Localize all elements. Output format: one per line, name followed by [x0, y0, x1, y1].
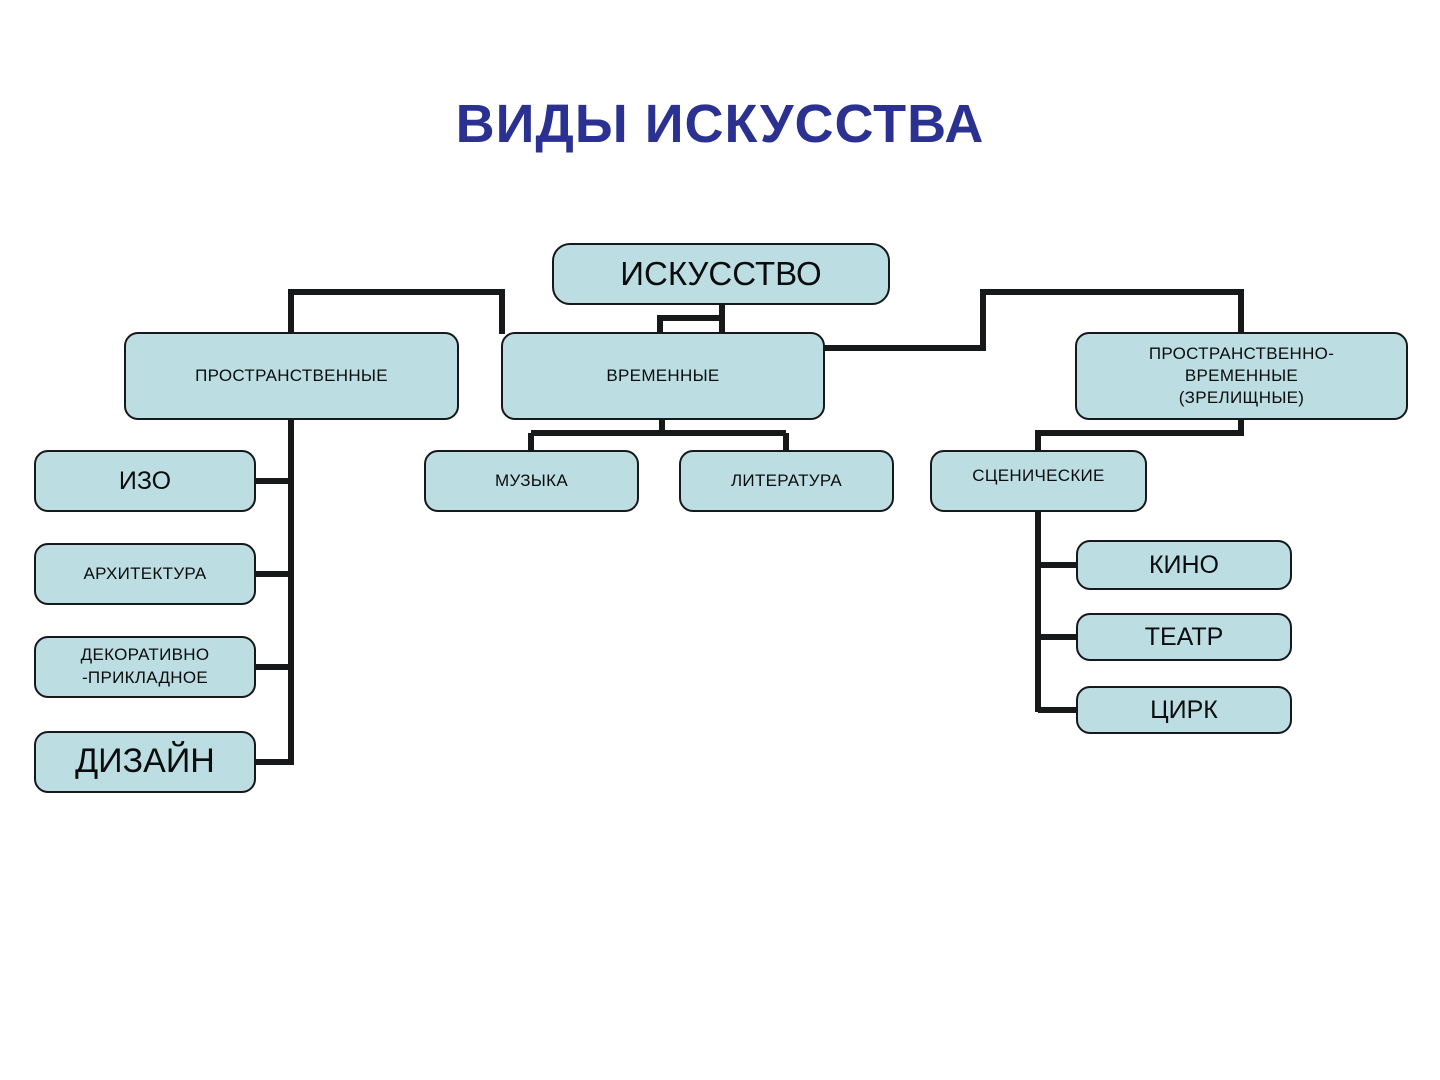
node-design-label: ДИЗАЙН — [75, 742, 215, 781]
node-spatiotemporal-label: ПРОСТРАНСТВЕННО- ВРЕМЕННЫЕ (ЗРЕЛИЩНЫЕ) — [1149, 343, 1334, 409]
node-art[interactable]: ИСКУССТВО — [552, 243, 890, 305]
node-art-label: ИСКУССТВО — [620, 255, 821, 293]
node-stage-arts-label: СЦЕНИЧЕСКИЕ — [972, 466, 1104, 486]
node-cinema-label: КИНО — [1149, 551, 1219, 580]
node-temporal[interactable]: ВРЕМЕННЫЕ — [501, 332, 825, 420]
node-circus[interactable]: ЦИРК — [1076, 686, 1292, 734]
node-temporal-label: ВРЕМЕННЫЕ — [606, 366, 719, 386]
node-literature-label: ЛИТЕРАТУРА — [731, 471, 842, 491]
node-theatre-label: ТЕАТР — [1145, 623, 1224, 652]
slide-canvas: ВИДЫ ИСКУССТВА — [0, 0, 1440, 1080]
node-theatre[interactable]: ТЕАТР — [1076, 613, 1292, 661]
edge-art-bracket — [660, 318, 722, 332]
node-izo-label: ИЗО — [119, 467, 171, 496]
node-applied-arts-label: ДЕКОРАТИВНО -ПРИКЛАДНОЕ — [81, 644, 210, 690]
node-architecture[interactable]: АРХИТЕКТУРА — [34, 543, 256, 605]
node-design[interactable]: ДИЗАЙН — [34, 731, 256, 793]
node-spatial[interactable]: ПРОСТРАНСТВЕННЫЕ — [124, 332, 459, 420]
edge-spatiotemporal-to-stage — [1038, 418, 1241, 452]
node-cinema[interactable]: КИНО — [1076, 540, 1292, 590]
node-music-label: МУЗЫКА — [495, 471, 568, 491]
node-literature[interactable]: ЛИТЕРАТУРА — [679, 450, 894, 512]
page-title: ВИДЫ ИСКУССТВА — [0, 97, 1440, 151]
node-applied-arts[interactable]: ДЕКОРАТИВНО -ПРИКЛАДНОЕ — [34, 636, 256, 698]
node-spatiotemporal[interactable]: ПРОСТРАНСТВЕННО- ВРЕМЕННЫЕ (ЗРЕЛИЩНЫЕ) — [1075, 332, 1408, 420]
node-music[interactable]: МУЗЫКА — [424, 450, 639, 512]
node-izo[interactable]: ИЗО — [34, 450, 256, 512]
edge-bracket-left — [291, 292, 502, 334]
node-stage-arts[interactable]: СЦЕНИЧЕСКИЕ — [930, 450, 1147, 512]
node-architecture-label: АРХИТЕКТУРА — [83, 564, 206, 584]
node-circus-label: ЦИРК — [1150, 696, 1218, 725]
node-spatial-label: ПРОСТРАНСТВЕННЫЕ — [195, 366, 388, 386]
